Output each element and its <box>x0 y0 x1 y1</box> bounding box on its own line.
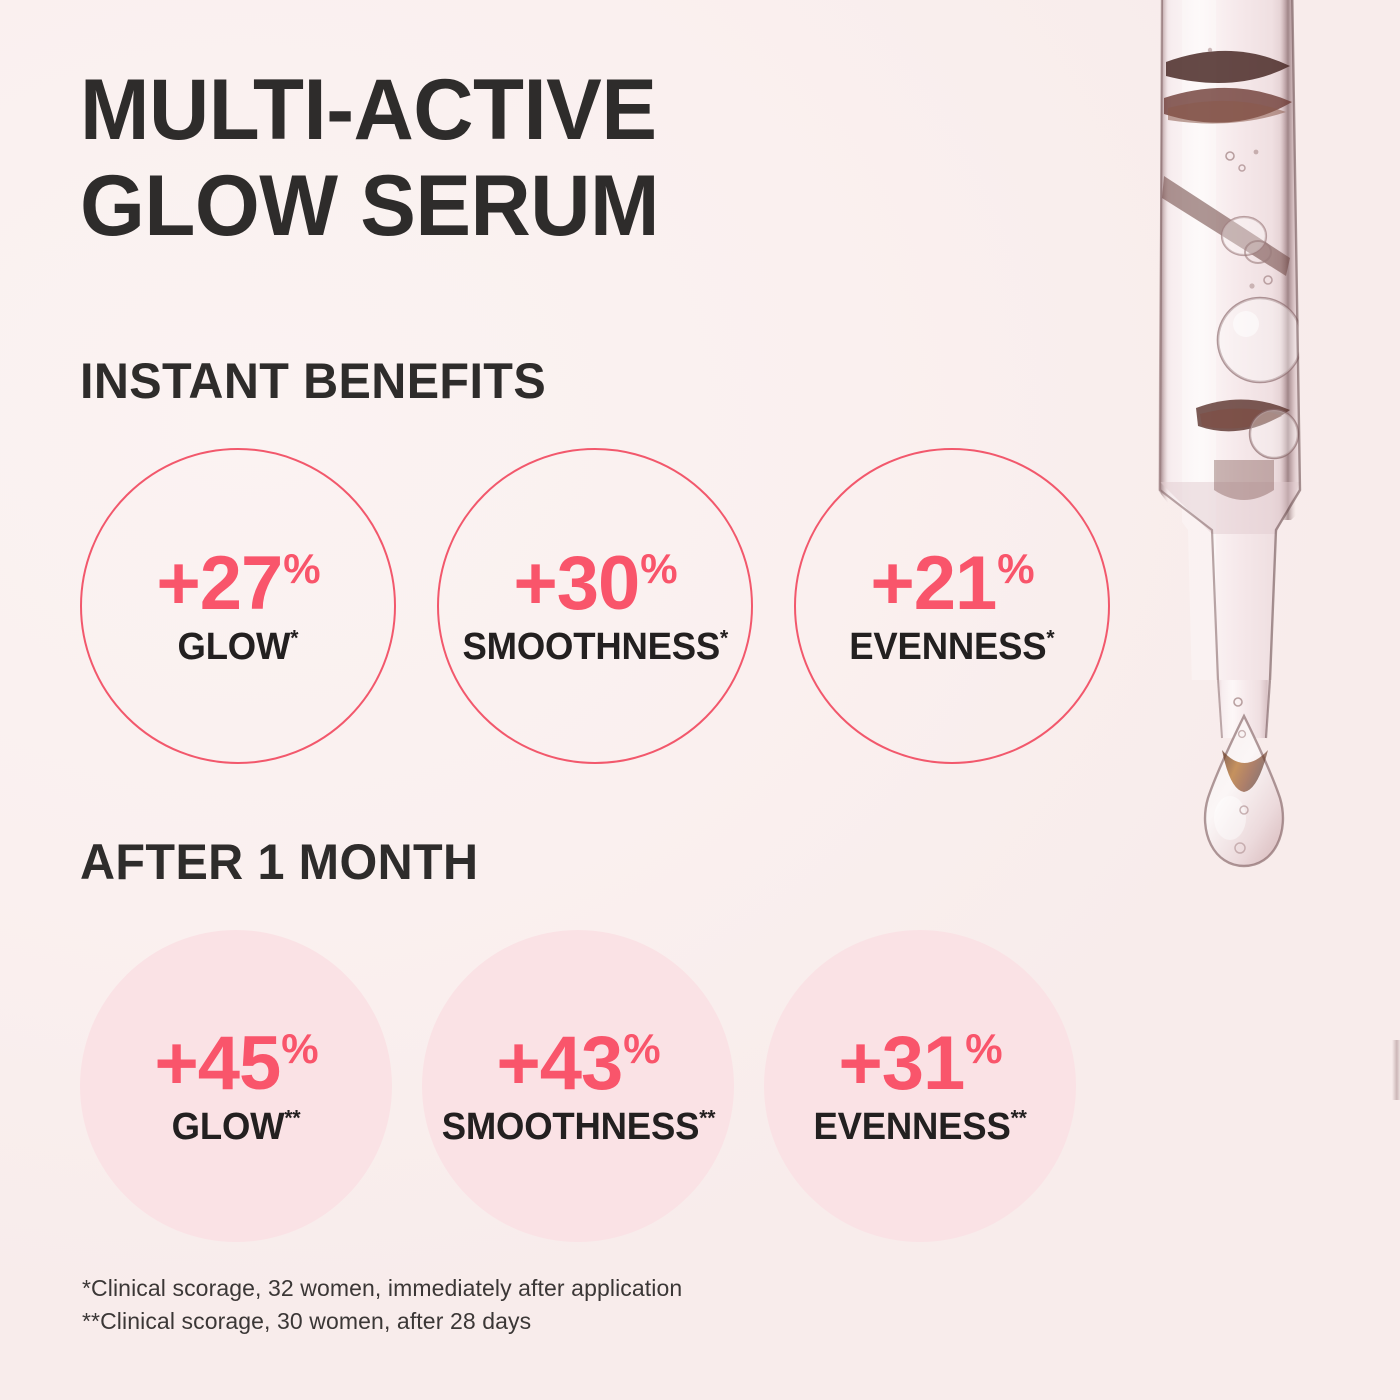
percent-symbol: % <box>965 1028 1001 1070</box>
stat-value: +31 % <box>838 1026 1001 1102</box>
stat-circle-evenness-month: +31 % EVENNESS** <box>764 930 1076 1242</box>
page-title: MULTI-ACTIVE GLOW SERUM <box>80 62 1050 255</box>
stat-number: +27 <box>156 546 282 622</box>
percent-symbol: % <box>283 548 319 590</box>
percent-symbol: % <box>640 548 676 590</box>
stat-label: EVENNESS* <box>849 628 1054 666</box>
stat-label-text: SMOOTHNESS <box>462 626 720 668</box>
stat-row-month: +45 % GLOW** +43 % SMOOTHNESS** +31 % EV… <box>80 930 1120 1242</box>
stat-label: GLOW** <box>172 1108 301 1146</box>
serum-droplet <box>1205 716 1283 866</box>
stat-number: +43 <box>496 1026 622 1102</box>
stat-row-instant: +27 % GLOW* +30 % SMOOTHNESS* +21 % EVEN… <box>80 450 1120 762</box>
footnote-marker: * <box>290 625 298 650</box>
stat-value: +45 % <box>154 1026 317 1102</box>
percent-symbol: % <box>997 548 1033 590</box>
stat-circle-glow-month: +45 % GLOW** <box>80 930 392 1242</box>
stat-label: EVENNESS** <box>813 1108 1026 1146</box>
stat-circle-evenness-instant: +21 % EVENNESS* <box>794 448 1110 764</box>
stat-value: +30 % <box>513 546 676 622</box>
footnote-marker: ** <box>699 1105 715 1130</box>
footnotes: *Clinical scorage, 32 women, immediately… <box>82 1272 682 1337</box>
stat-label: SMOOTHNESS* <box>462 628 728 666</box>
stat-label: GLOW* <box>178 628 299 666</box>
serum-dropper-image <box>1140 0 1400 950</box>
stat-circle-smoothness-month: +43 % SMOOTHNESS** <box>422 930 734 1242</box>
footnote-double-asterisk: **Clinical scorage, 30 women, after 28 d… <box>82 1305 682 1338</box>
section-heading-month: AFTER 1 MONTH <box>80 833 478 891</box>
footnote-marker: ** <box>284 1105 300 1130</box>
infographic-page: MULTI-ACTIVE GLOW SERUM INSTANT BENEFITS… <box>0 0 1400 1400</box>
dropper-glass-tube <box>1154 0 1302 738</box>
section-heading-instant: INSTANT BENEFITS <box>80 352 546 410</box>
stat-label-text: SMOOTHNESS <box>441 1106 699 1148</box>
stat-value: +21 % <box>870 546 1033 622</box>
stat-number: +21 <box>870 546 996 622</box>
stat-value: +27 % <box>156 546 319 622</box>
dropper-illustration <box>1140 0 1400 950</box>
stat-number: +45 <box>154 1026 280 1102</box>
stat-label-text: EVENNESS <box>849 626 1046 668</box>
footnote-single-asterisk: *Clinical scorage, 32 women, immediately… <box>82 1272 682 1305</box>
stat-number: +30 <box>513 546 639 622</box>
stat-label-text: GLOW <box>178 626 291 668</box>
stat-circle-smoothness-instant: +30 % SMOOTHNESS* <box>437 448 753 764</box>
stat-number: +31 <box>838 1026 964 1102</box>
stat-circle-glow-instant: +27 % GLOW* <box>80 448 396 764</box>
footnote-marker: ** <box>1011 1105 1027 1130</box>
stat-value: +43 % <box>496 1026 659 1102</box>
footnote-marker: * <box>1047 625 1055 650</box>
stat-label-text: GLOW <box>172 1106 285 1148</box>
percent-symbol: % <box>281 1028 317 1070</box>
stat-label: SMOOTHNESS** <box>441 1108 715 1146</box>
percent-symbol: % <box>623 1028 659 1070</box>
footnote-marker: * <box>720 625 728 650</box>
right-edge-artifact <box>1392 1040 1400 1100</box>
stat-label-text: EVENNESS <box>813 1106 1010 1148</box>
